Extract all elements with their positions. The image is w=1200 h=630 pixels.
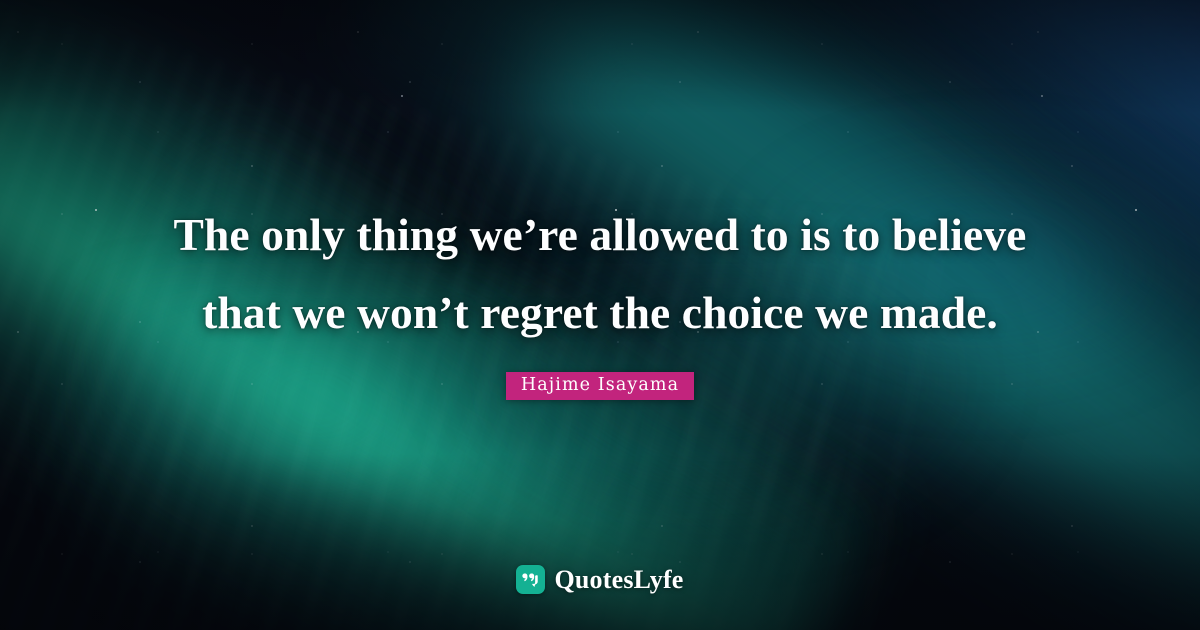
card-content: The only thing we’re allowed to is to be… <box>0 0 1200 630</box>
quote-card: The only thing we’re allowed to is to be… <box>0 0 1200 630</box>
quote-line-2: that we won’t regret the choice we made. <box>95 274 1105 352</box>
quote-text-block: The only thing we’re allowed to is to be… <box>95 196 1105 352</box>
quote-line-1: The only thing we’re allowed to is to be… <box>95 196 1105 274</box>
author-name-badge: Hajime Isayama <box>506 372 694 400</box>
author-row: Hajime Isayama <box>506 372 694 400</box>
